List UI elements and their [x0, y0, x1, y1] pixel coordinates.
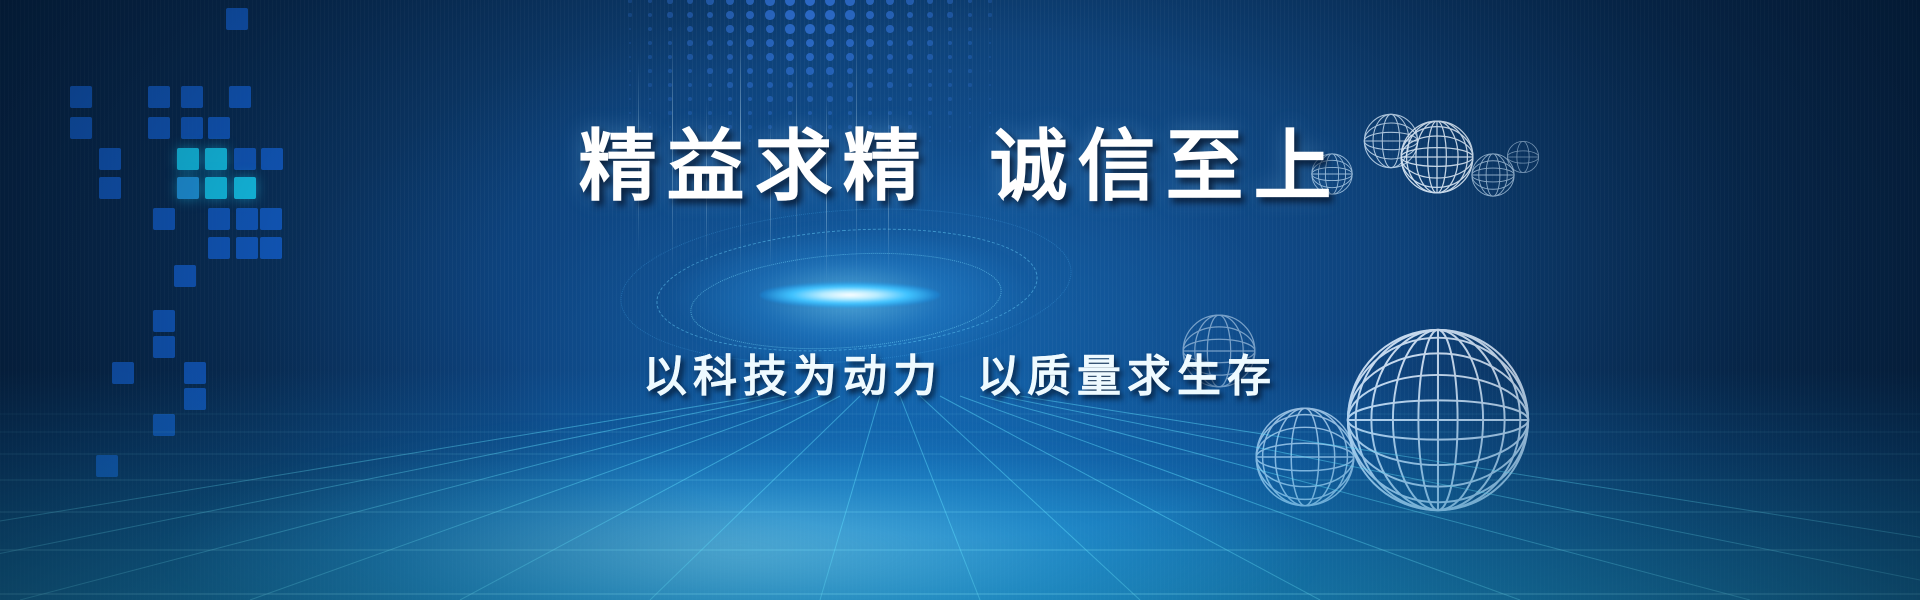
floor-grid-lines [0, 370, 1920, 600]
hero-banner: 精益求精 诚信至上 以科技为动力 以质量求生存 [0, 0, 1920, 600]
page-subtitle: 以科技为动力 以质量求生存 [0, 340, 1920, 404]
perspective-grid-floor [0, 370, 1920, 600]
page-title: 精益求精 诚信至上 [0, 104, 1920, 216]
